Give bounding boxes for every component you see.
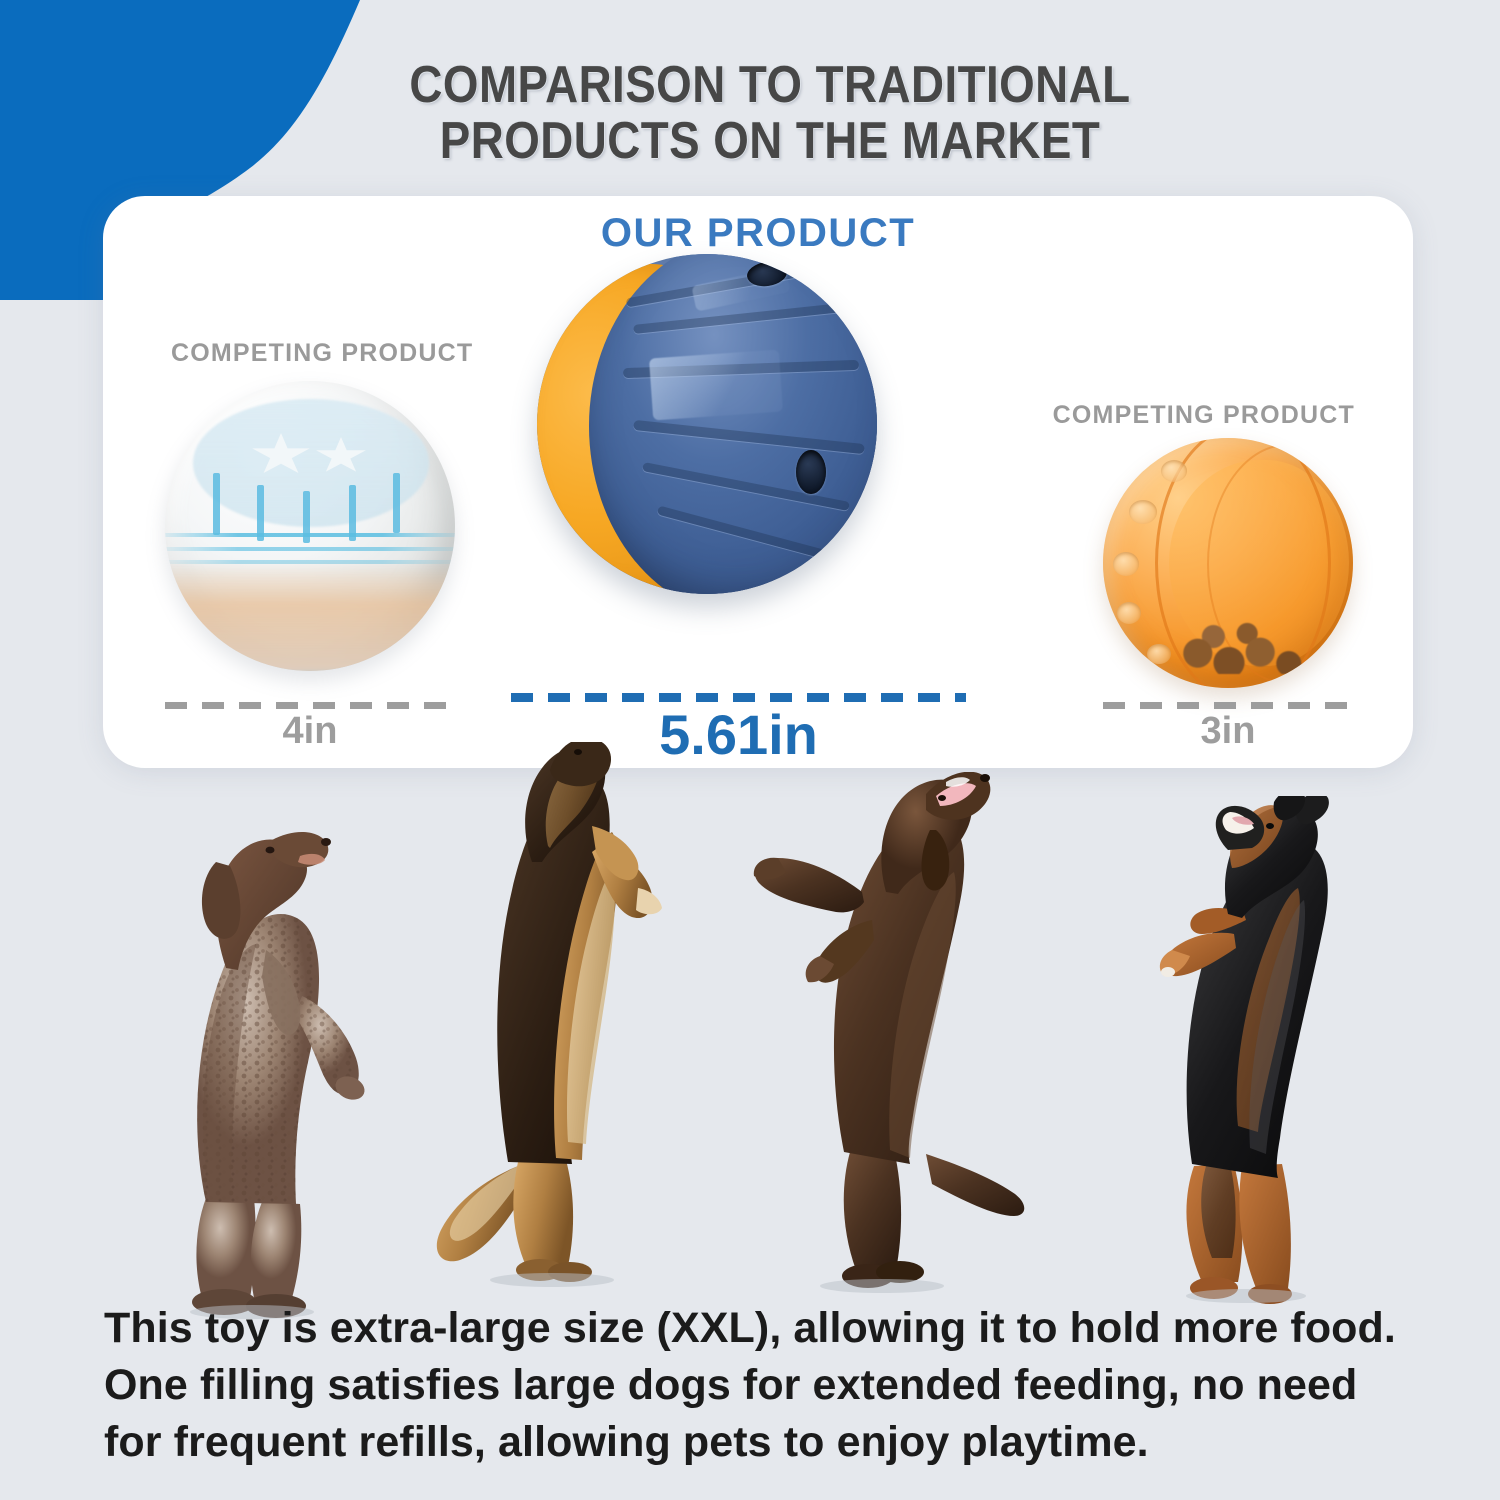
page-title-line-1: COMPARISON TO TRADITIONAL — [128, 58, 1413, 114]
measure-dash-left — [165, 702, 455, 709]
ball-dimple — [1117, 602, 1141, 624]
treat-hole-side — [796, 450, 826, 494]
ball-dimple — [1113, 552, 1139, 576]
ball-fin — [393, 473, 400, 533]
competing-product-label-left: COMPETING PRODUCT — [171, 339, 473, 368]
dog-german-shorthaired-pointer — [150, 800, 410, 1320]
comparison-card: OUR PRODUCT COMPETING PRODUCT COMPETING … — [103, 196, 1413, 768]
kibble-fill — [1177, 622, 1307, 674]
competing-product-ball-left — [165, 381, 455, 671]
kibble-fill — [165, 561, 455, 671]
size-label-right: 3in — [1103, 710, 1353, 753]
product-description: This toy is extra-large size (XXL), allo… — [104, 1300, 1434, 1470]
ball-highlight — [649, 350, 783, 421]
ball-groove — [657, 506, 828, 560]
ball-blue-half — [589, 254, 877, 594]
page-title: COMPARISON TO TRADITIONAL PRODUCTS ON TH… — [0, 58, 1500, 169]
dog-chocolate-labrador — [740, 772, 1050, 1312]
ball-dimple — [1129, 500, 1157, 524]
description-line-1: This toy is extra-large size (XXL), allo… — [104, 1300, 1434, 1357]
our-product-ball — [537, 254, 877, 594]
dog-doberman-pinscher — [1110, 796, 1390, 1316]
measure-dash-right — [1103, 702, 1353, 709]
ball-dimple — [1147, 644, 1171, 664]
measure-dash-center — [511, 693, 966, 702]
dog-german-shepherd — [400, 742, 690, 1302]
page-title-line-2: PRODUCTS ON THE MARKET — [128, 114, 1413, 170]
description-line-2: One filling satisfies large dogs for ext… — [104, 1357, 1434, 1414]
competing-product-ball-right — [1103, 438, 1353, 688]
ball-ring — [165, 533, 455, 537]
ball-dimple — [1161, 460, 1187, 482]
ball-groove — [633, 420, 865, 454]
description-line-3: for frequent refills, allowing pets to e… — [104, 1414, 1434, 1471]
ball-groove — [633, 303, 843, 334]
ball-ring — [165, 547, 455, 551]
ball-fin — [213, 473, 220, 535]
competing-product-label-right: COMPETING PRODUCT — [1053, 401, 1355, 430]
dogs-row — [0, 760, 1500, 1320]
our-product-label: OUR PRODUCT — [103, 211, 1413, 256]
